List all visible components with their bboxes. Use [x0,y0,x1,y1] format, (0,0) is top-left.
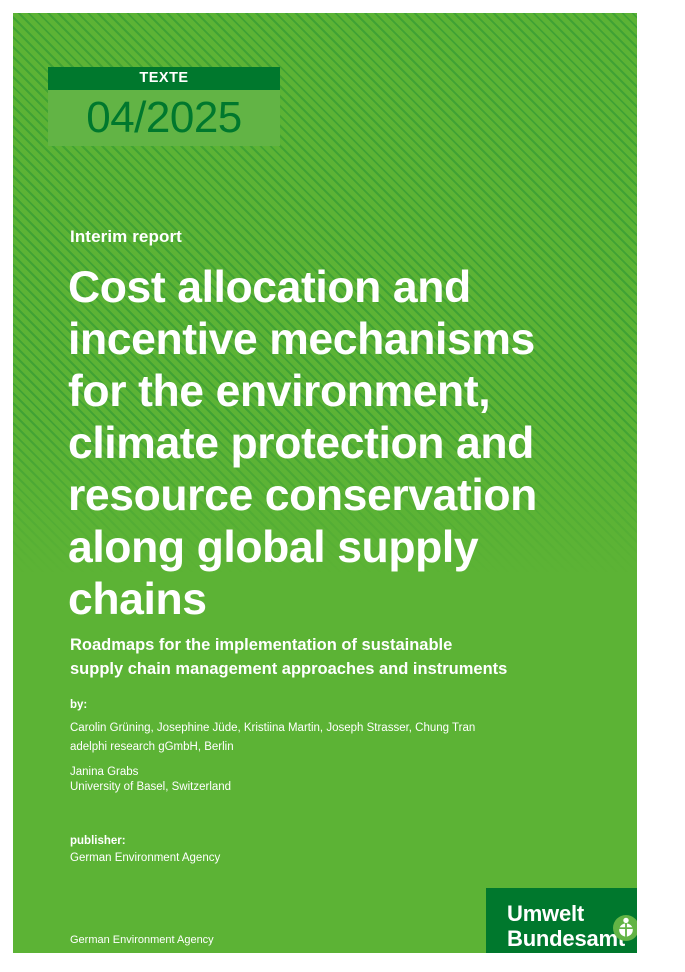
authors-by-label: by: [70,699,630,711]
issue-number: 04/2025 [48,90,280,146]
umweltbundesamt-logo: Umwelt Bundesamt [486,888,637,953]
subtitle-line: supply chain management approaches and i… [70,657,637,681]
publisher-name: German Environment Agency [70,850,220,867]
authors-block: by: Carolin Grüning, Josephine Jüde, Kri… [70,699,630,794]
author-name-grabs: Janina Grabs [70,765,630,780]
title-line: for the environment, [68,366,628,418]
subtitle-line: Roadmaps for the implementation of susta… [70,633,637,657]
author-names-adelphi: Carolin Grüning, Josephine Jüde, Kristii… [70,719,630,738]
series-label: TEXTE [48,67,280,90]
title-line: Cost allocation and [68,262,628,314]
issue-box: 04/2025 [48,90,280,146]
publisher-block: publisher: German Environment Agency [70,833,220,867]
uba-emblem-icon [613,915,637,941]
publisher-label: publisher: [70,833,220,850]
title-line: resource conservation [68,470,628,522]
cover-green-panel: TEXTE 04/2025 Interim report Cost alloca… [13,13,637,953]
logo-inner: Umwelt Bundesamt [507,901,637,953]
author-affiliation-adelphi: adelphi research gGmbH, Berlin [70,738,630,757]
title-line: incentive mechanisms [68,314,628,366]
report-cover: TEXTE 04/2025 Interim report Cost alloca… [0,0,685,972]
author-affiliation-basel: University of Basel, Switzerland [70,780,630,795]
texte-series-badge: TEXTE 04/2025 [48,67,280,146]
title-line: climate protection and [68,418,628,470]
title-line: along global supply [68,522,628,574]
footer-agency-name: German Environment Agency [70,934,214,946]
title-line: chains [68,574,628,626]
page-title: Cost allocation and incentive mechanisms… [68,262,628,626]
report-type-label: Interim report [70,227,182,247]
page-subtitle: Roadmaps for the implementation of susta… [70,633,637,681]
